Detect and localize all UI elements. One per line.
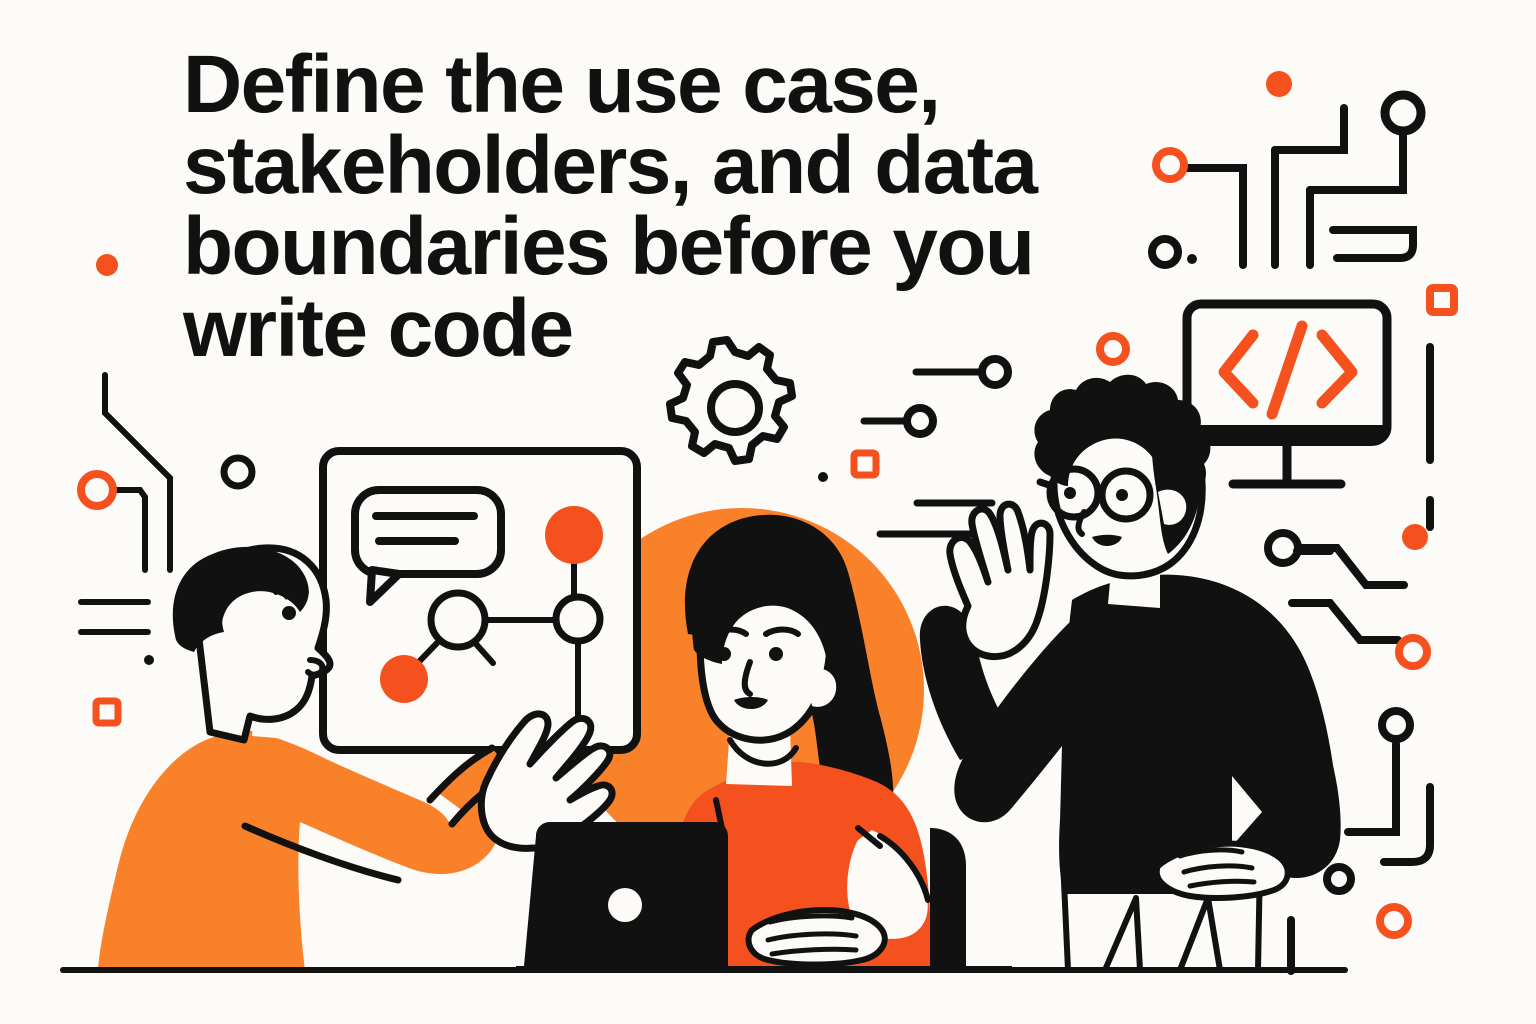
eye <box>717 647 731 661</box>
eye <box>1064 487 1076 499</box>
hand-on-hip <box>1157 844 1288 898</box>
laptop-logo <box>608 888 642 922</box>
black-dot <box>1187 254 1197 264</box>
chair-back <box>930 828 966 970</box>
node-hollow-right <box>556 597 600 641</box>
eye <box>769 647 783 661</box>
black-dot <box>818 472 828 482</box>
page-title: Define the use case, stakeholders, and d… <box>183 44 1103 369</box>
eye <box>282 606 296 620</box>
hands-on-keyboard <box>749 910 885 965</box>
orange-dot <box>1402 524 1428 550</box>
node-orange-top-right <box>545 506 603 564</box>
node-orange-bottom-left <box>380 655 428 703</box>
orange-dot <box>1266 71 1292 97</box>
whiteboard-panel <box>323 451 637 750</box>
node-hollow-left <box>431 593 485 647</box>
black-dot <box>144 655 154 665</box>
illustration-canvas: Define the use case, stakeholders, and d… <box>0 0 1536 1024</box>
eye <box>1116 489 1128 501</box>
